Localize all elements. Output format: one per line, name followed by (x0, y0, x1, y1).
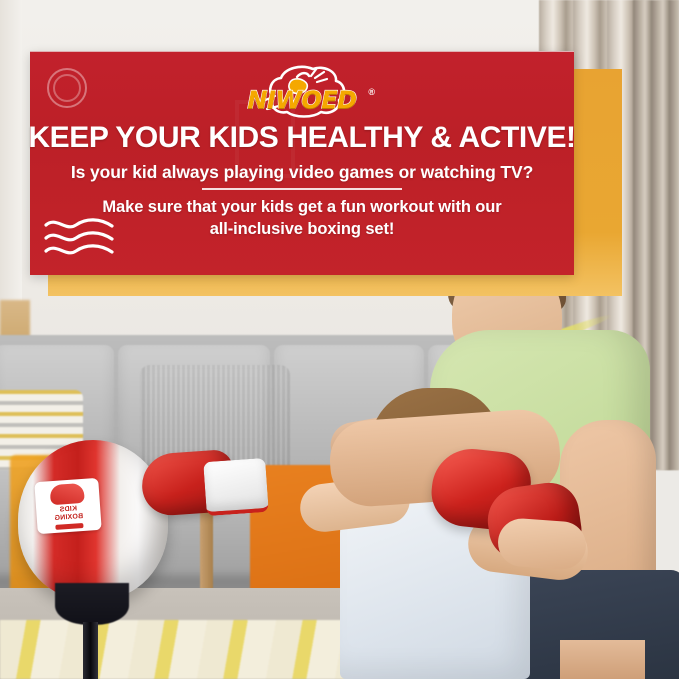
punching-bag-label: KIDS BOXING (34, 478, 101, 534)
brand-logo: NIWOED ® (227, 63, 377, 119)
banner-subheadline: Is your kid always playing video games o… (71, 162, 533, 183)
boxing-glove-icon (49, 482, 84, 504)
banner-headline: KEEP YOUR KIDS HEALTHY & ACTIVE! (28, 121, 575, 155)
banner-content: NIWOED ® KEEP YOUR KIDS HEALTHY & ACTIVE… (30, 52, 574, 275)
punching-bag: KIDS BOXING (18, 440, 168, 600)
product-banner-image: KIDS BOXING (0, 0, 679, 679)
man-hand-guiding (496, 517, 587, 571)
brand-logo-text: NIWOED (227, 86, 377, 114)
trademark-symbol: ® (368, 87, 375, 97)
punching-bag-pole (83, 622, 98, 679)
bag-label-line-2: BOXING (54, 512, 83, 522)
promo-banner: NIWOED ® KEEP YOUR KIDS HEALTHY & ACTIVE… (30, 51, 574, 275)
punching-bag-neck (55, 583, 129, 625)
glove-wrist-wrap (203, 458, 269, 516)
man-leg (560, 640, 645, 679)
banner-body-line-2: all-inclusive boxing set! (210, 220, 395, 239)
divider-rule (202, 188, 402, 190)
banner-body-line-1: Make sure that your kids get a fun worko… (102, 198, 501, 217)
bag-label-bar (55, 522, 83, 529)
